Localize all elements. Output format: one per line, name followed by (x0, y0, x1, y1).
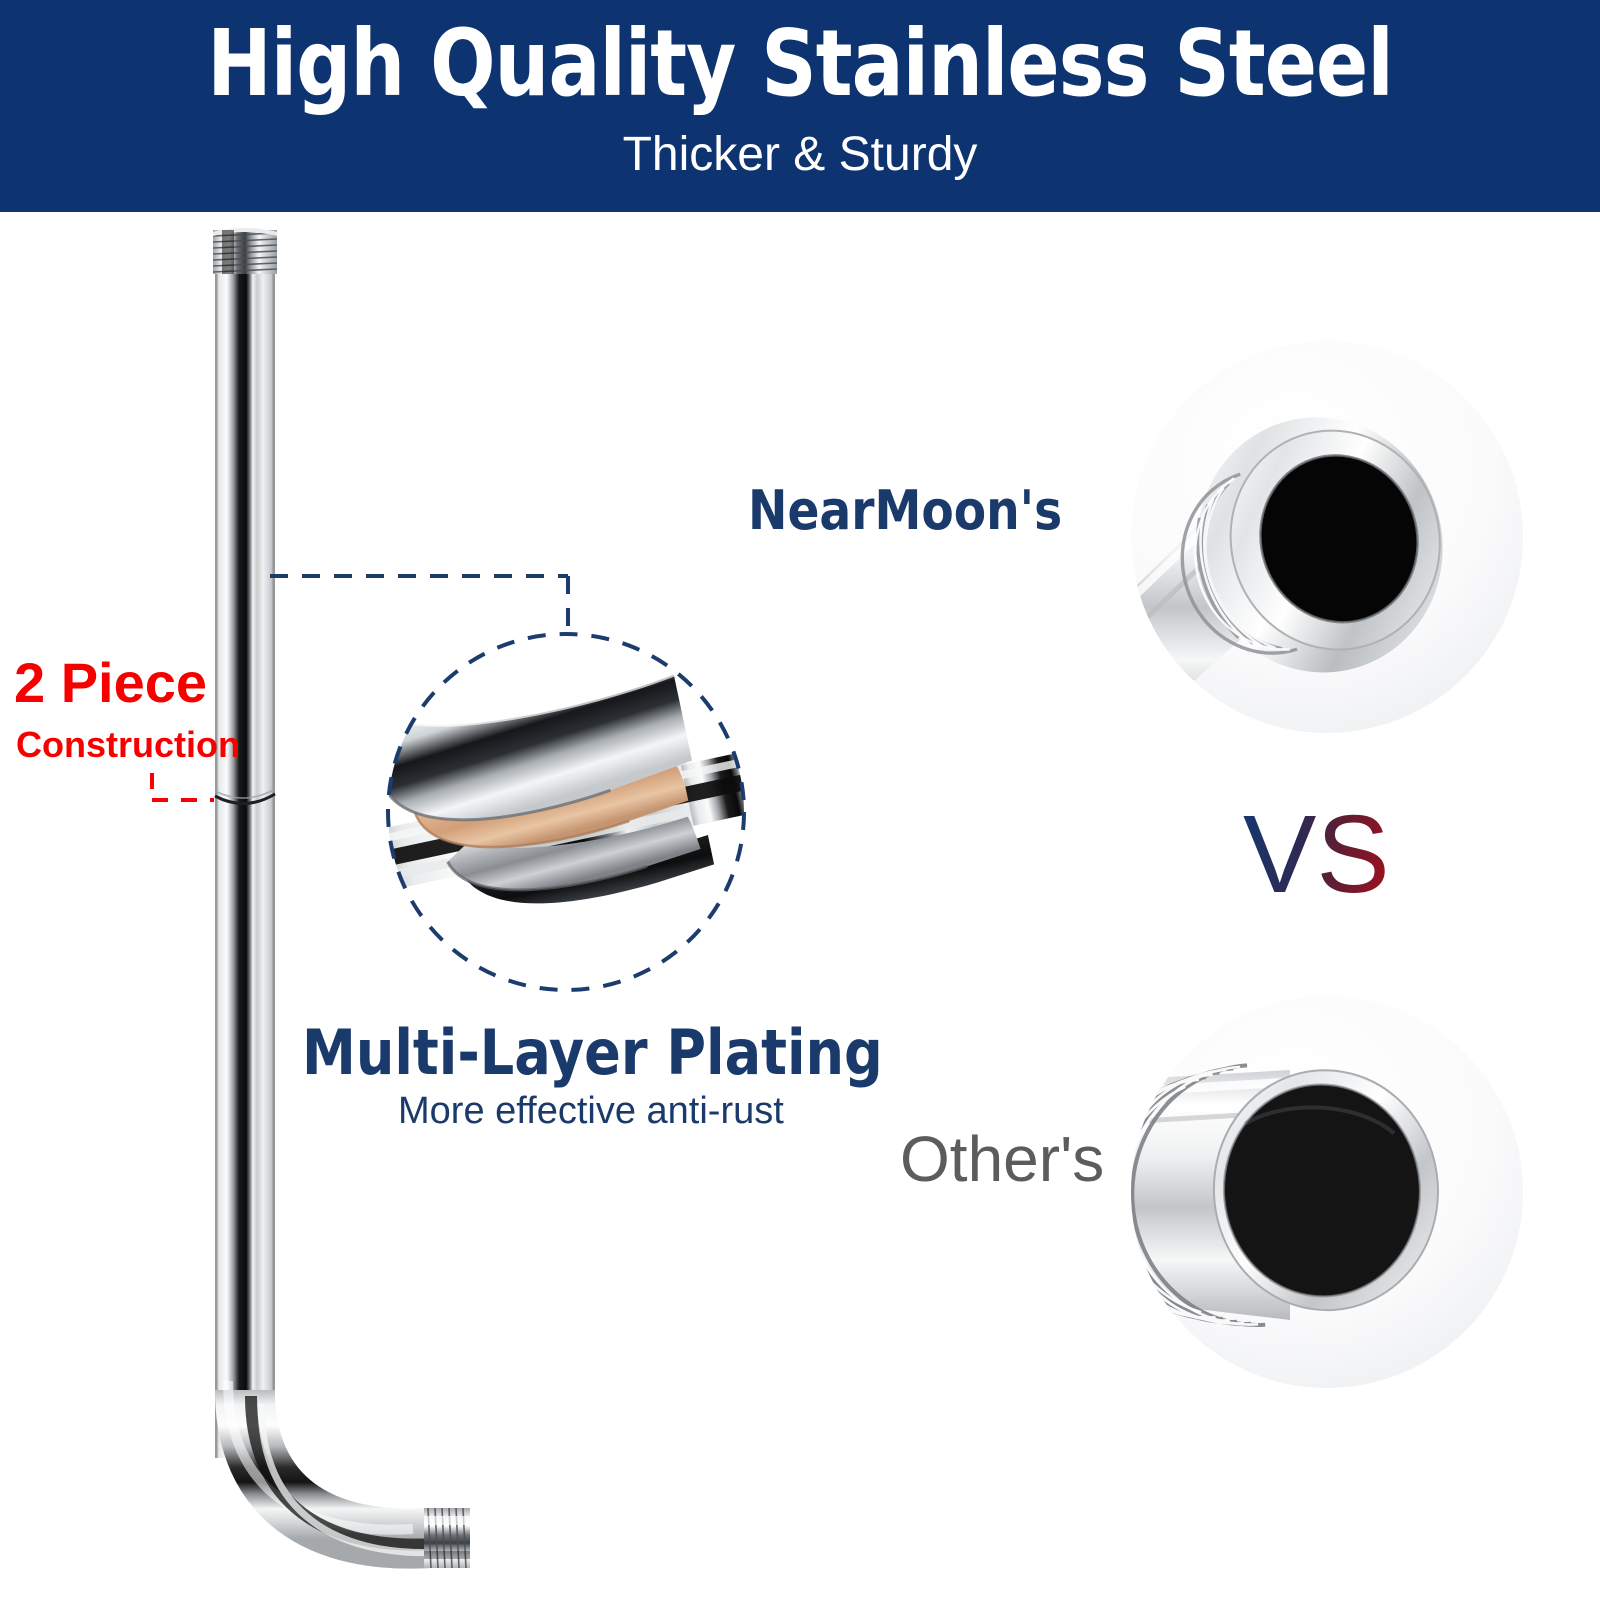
shower-arm-bottom-thread (424, 1508, 470, 1568)
plating-subtitle: More effective anti-rust (398, 1092, 784, 1130)
two-piece-title: 2 Piece (14, 655, 207, 711)
other-closeup-photo (1079, 996, 1523, 1388)
infographic-page: High Quality Stainless Steel Thicker & S… (0, 0, 1600, 1600)
plating-title: Multi-Layer Plating (302, 1022, 883, 1084)
versus-label: VS (1243, 800, 1390, 910)
two-piece-subtitle: Construction (16, 727, 240, 763)
shower-arm-top-thread (213, 228, 277, 274)
shower-arm-elbow (157, 1381, 446, 1600)
two-piece-callout-line (152, 773, 214, 800)
other-label: Other's (900, 1127, 1104, 1191)
shower-arm-vertical-tube (215, 268, 275, 1458)
plating-callout-line (270, 576, 568, 650)
nearmoon-label: NearMoon's (748, 484, 1062, 538)
multi-layer-plating-detail (370, 632, 784, 992)
nearmoon-closeup-photo (1080, 341, 1523, 733)
